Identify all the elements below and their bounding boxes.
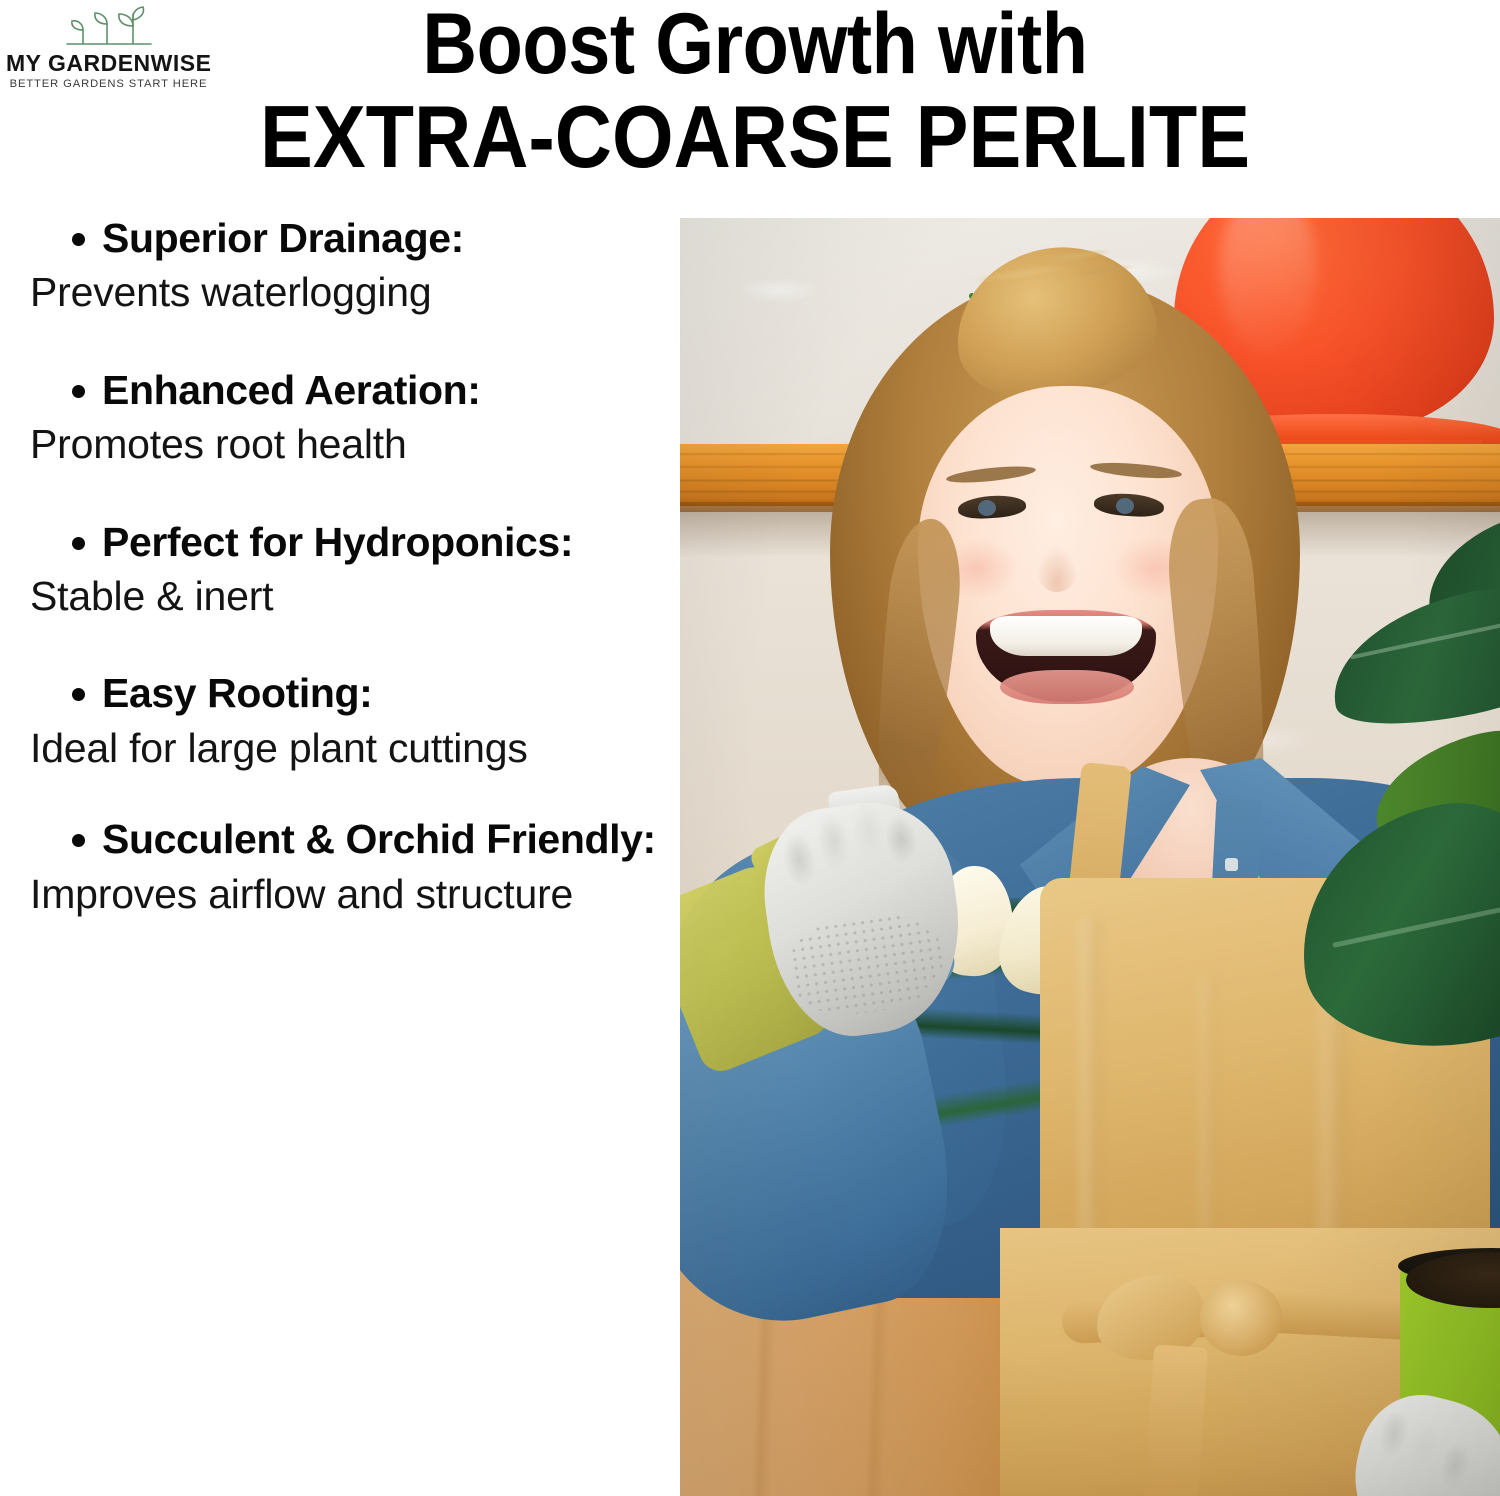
benefit-description: Improves airflow and structure [0, 868, 660, 921]
headline-line-2: EXTRA-COARSE PERLITE [260, 90, 1250, 184]
benefit-item: Perfect for Hydroponics: Stable & inert [0, 516, 660, 624]
spacer [0, 775, 660, 813]
benefit-title-row: Superior Drainage: [0, 212, 660, 264]
benefit-item: Succulent & Orchid Friendly: Improves ai… [0, 813, 660, 921]
benefit-title-row: Enhanced Aeration: [0, 364, 660, 416]
benefit-description: Promotes root health [0, 418, 660, 471]
spacer [0, 472, 660, 516]
benefit-title: Enhanced Aeration: [102, 364, 660, 416]
benefit-item: Enhanced Aeration: Promotes root health [0, 364, 660, 472]
brand-logo: MY GARDENWISE BETTER GARDENS START HERE [6, 4, 211, 90]
benefit-item: Easy Rooting: Ideal for large plant cutt… [0, 667, 660, 775]
brand-name: MY GARDENWISE [6, 52, 211, 75]
page-title: Boost Growth with EXTRA-COARSE PERLITE [205, 0, 1305, 184]
benefit-title: Perfect for Hydroponics: [102, 516, 660, 568]
product-lifestyle-photo [680, 218, 1500, 1496]
benefit-title-row: Easy Rooting: [0, 667, 660, 719]
bullet-dot-icon [72, 688, 85, 701]
benefit-title-row: Perfect for Hydroponics: [0, 516, 660, 568]
benefit-title: Superior Drainage: [102, 212, 660, 264]
benefit-description: Prevents waterlogging [0, 266, 660, 319]
benefits-list: Superior Drainage: Prevents waterlogging… [0, 212, 660, 1496]
benefit-title: Easy Rooting: [102, 667, 660, 719]
headline-line-1: Boost Growth with [271, 0, 1239, 90]
three-sprouts-icon [61, 4, 157, 50]
bullet-dot-icon [72, 834, 85, 847]
brand-tagline: BETTER GARDENS START HERE [6, 78, 211, 90]
spacer [0, 623, 660, 667]
benefit-description: Stable & inert [0, 570, 660, 623]
bullet-dot-icon [72, 385, 85, 398]
spacer [0, 320, 660, 364]
benefit-description: Ideal for large plant cuttings [0, 722, 660, 775]
benefit-title-row: Succulent & Orchid Friendly: [0, 813, 660, 865]
benefit-title: Succulent & Orchid Friendly: [102, 813, 660, 865]
photo-vignette [680, 218, 1500, 1496]
bullet-dot-icon [72, 537, 85, 550]
benefit-item: Superior Drainage: Prevents waterlogging [0, 212, 660, 320]
bullet-dot-icon [72, 233, 85, 246]
